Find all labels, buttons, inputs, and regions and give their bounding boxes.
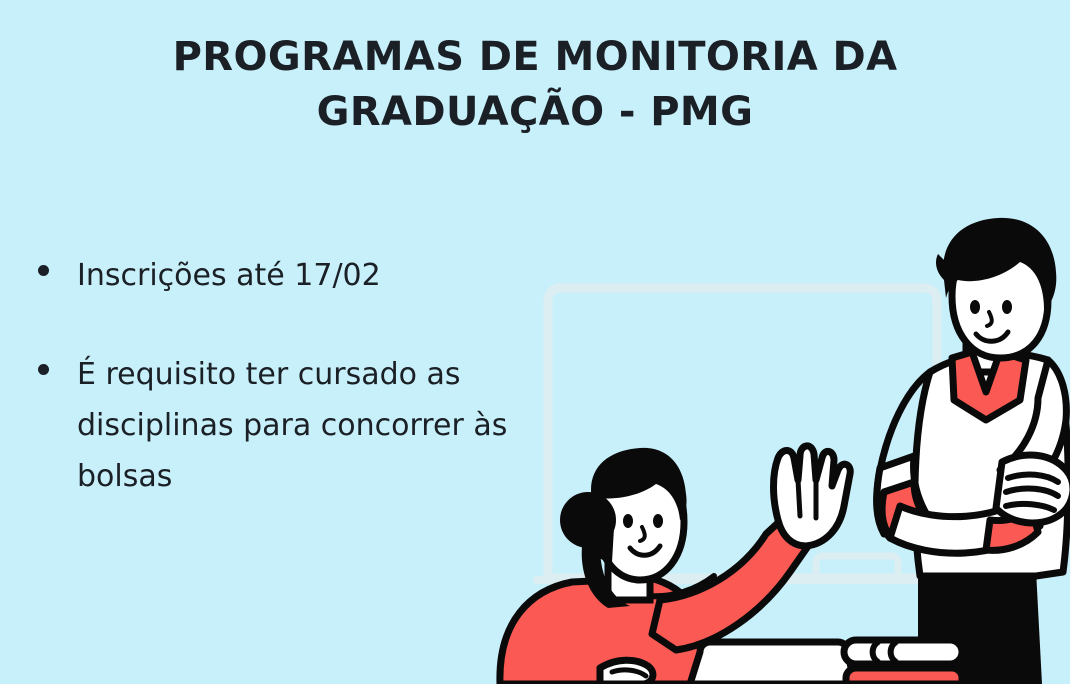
list-item: Inscrições até 17/02	[38, 250, 638, 301]
list-item: É requisito ter cursado as disciplinas p…	[38, 349, 638, 502]
bullet-text: É requisito ter cursado as disciplinas p…	[77, 349, 507, 502]
bullet-marker-icon	[38, 265, 49, 276]
student-raised-hand-icon	[774, 446, 851, 546]
book-stack-icon	[844, 640, 962, 684]
standing-teacher-figure	[877, 218, 1070, 684]
bullet-list: Inscrições até 17/02 É requisito ter cur…	[38, 250, 638, 550]
page-title: PROGRAMAS DE MONITORIA DA GRADUAÇÃO - PM…	[0, 30, 1070, 140]
bullet-text: Inscrições até 17/02	[77, 250, 381, 301]
slide-canvas: PROGRAMAS DE MONITORIA DA GRADUAÇÃO - PM…	[0, 0, 1070, 684]
laptop-icon	[690, 642, 854, 684]
bullet-marker-icon	[38, 364, 49, 375]
teacher-hand-icon	[996, 455, 1070, 523]
